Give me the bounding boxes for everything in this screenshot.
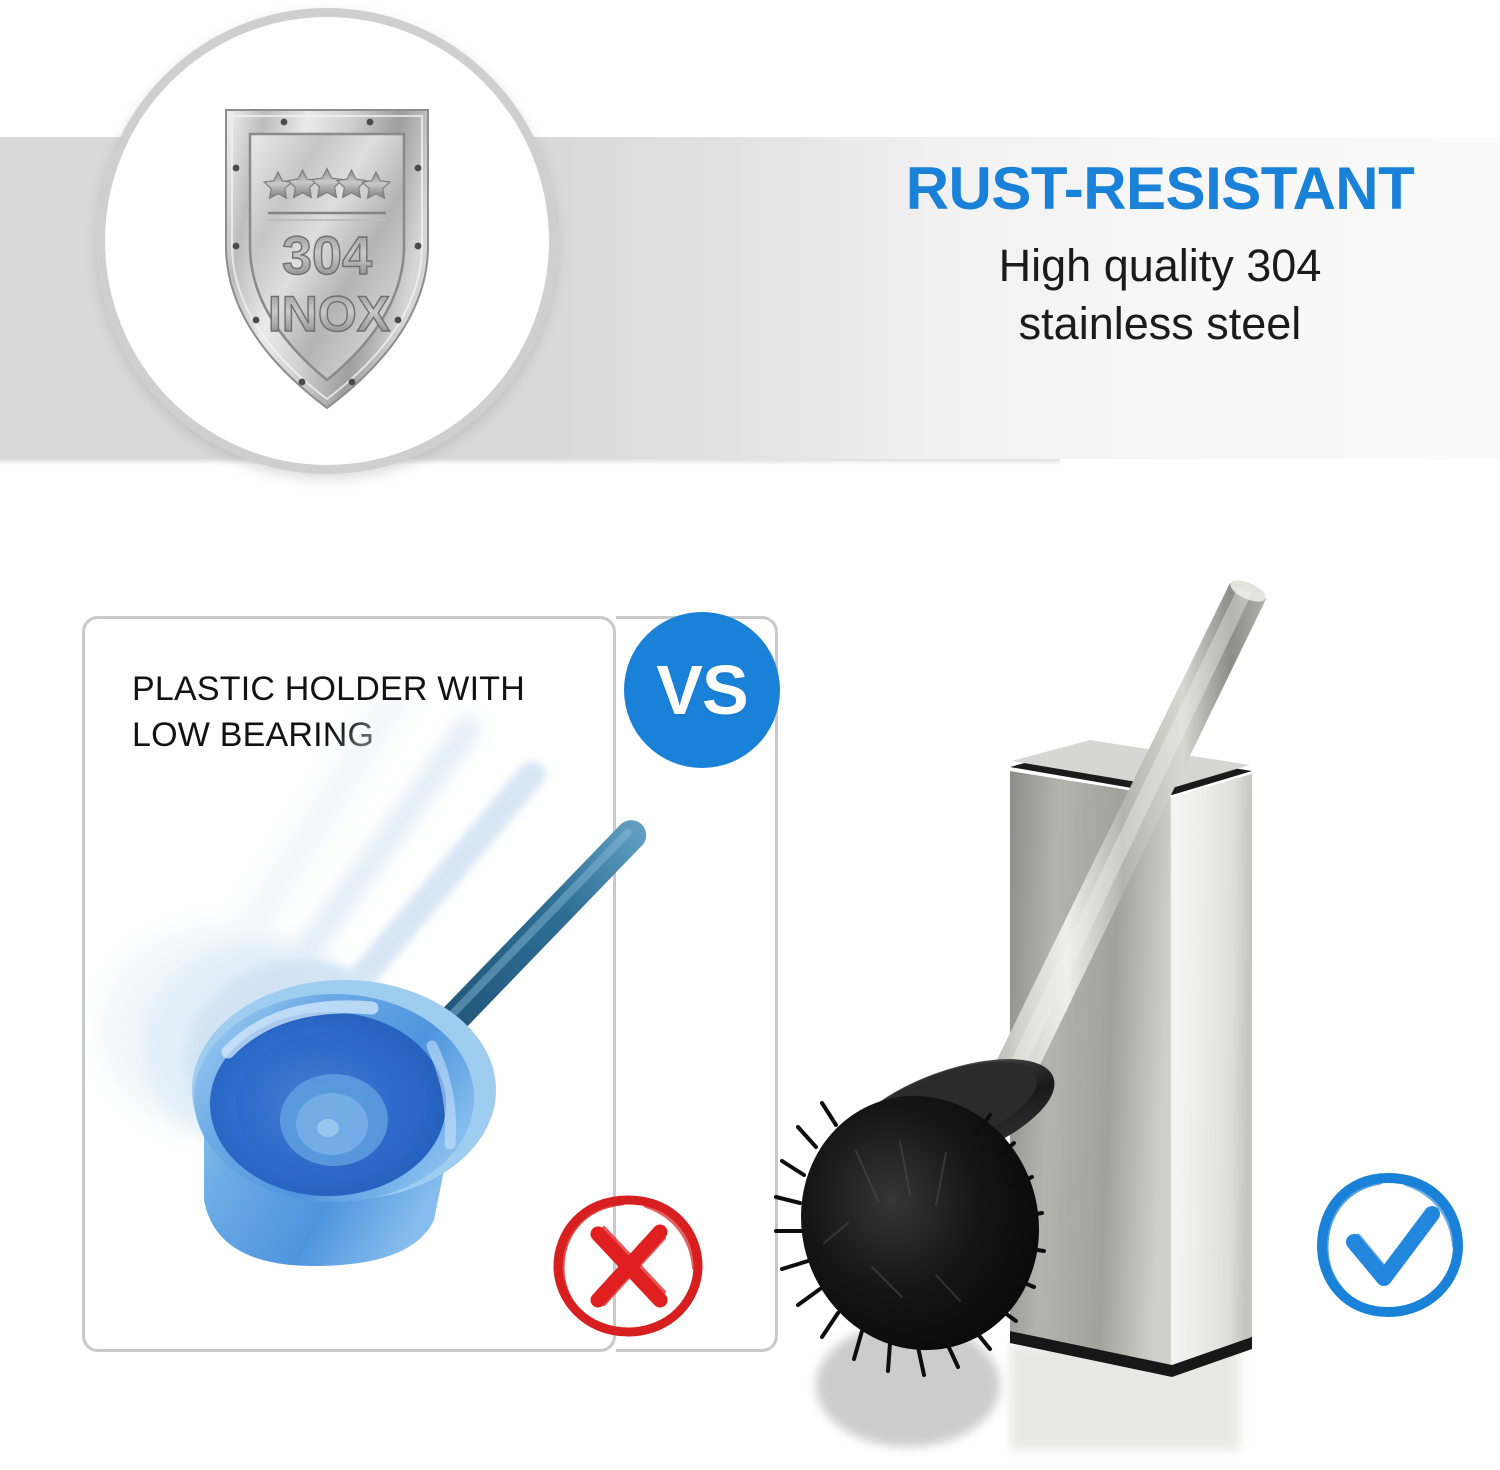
red-x-icon [548, 1190, 708, 1342]
blue-check-icon [1310, 1166, 1470, 1324]
headline-rust-resistant: RUST-RESISTANT [840, 158, 1480, 219]
stainless-steel-brush-image [760, 575, 1360, 1470]
shield-material-text: INOX [268, 286, 390, 342]
vs-badge: VS [624, 612, 780, 768]
shield-grade-text: 304 [282, 226, 372, 286]
banner-text-block: RUST-RESISTANT High quality 304 stainles… [840, 158, 1480, 352]
subline-text: High quality 304 stainless steel [840, 237, 1480, 352]
vs-label: VS [656, 650, 747, 730]
band-drop-shadow [0, 459, 1060, 465]
subline-line-1: High quality 304 [840, 237, 1480, 295]
product-feature-image: 304 INOX RUST-RESISTANT High quality 304… [0, 0, 1500, 1470]
plastic-holder-cup [192, 980, 496, 1266]
304-inox-shield-icon: 304 INOX [212, 96, 442, 416]
subline-line-2: stainless steel [840, 295, 1480, 353]
